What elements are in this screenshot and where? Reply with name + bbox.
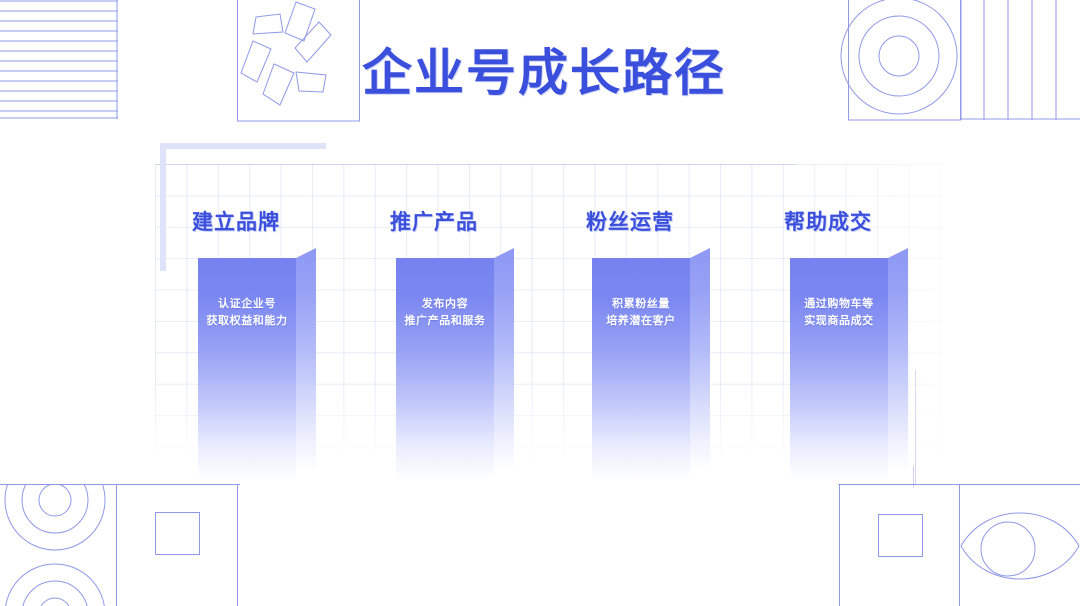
growth-step-4[interactable]: 帮助成交 通过购物车等 实现商品成交: [790, 248, 908, 480]
eye-icon: [960, 484, 1080, 606]
growth-step-2-line-1: 发布内容: [396, 296, 494, 313]
square-in-box-right: [838, 484, 962, 606]
growth-step-4-line-1: 通过购物车等: [790, 296, 888, 313]
concentric-circles-box: [838, 0, 962, 122]
growth-step-2-front-face: [396, 258, 494, 480]
growth-step-2-line-2: 推广产品和服务: [396, 313, 494, 330]
growth-step-4-heading: 帮助成交: [784, 206, 908, 236]
growth-step-1-side-face: [296, 248, 316, 470]
growth-step-2-heading: 推广产品: [390, 206, 514, 236]
slide-title-wrap: 企业号成长路径: [362, 48, 726, 98]
growth-step-2-description: 发布内容 推广产品和服务: [396, 296, 494, 330]
growth-step-3-heading: 粉丝运营: [586, 206, 710, 236]
vertical-stripes-panel: [960, 0, 1080, 122]
growth-step-3-line-2: 培养潜在客户: [592, 313, 690, 330]
square-in-box-left: [118, 484, 240, 606]
growth-step-4-line-2: 实现商品成交: [790, 313, 888, 330]
scattered-rectangles-box: [237, 0, 361, 122]
growth-step-2[interactable]: 推广产品 发布内容 推广产品和服务: [396, 248, 514, 480]
horizontal-stripes-panel: [0, 0, 120, 120]
growth-step-4-description: 通过购物车等 实现商品成交: [790, 296, 888, 330]
growth-step-1-description: 认证企业号 获取权益和能力: [198, 296, 296, 330]
growth-step-3-front-face: [592, 258, 690, 480]
growth-step-3-side-face: [690, 248, 710, 470]
stacked-concentric-circles-box: [0, 484, 118, 606]
growth-step-3[interactable]: 粉丝运营 积累粉丝量 培养潜在客户: [592, 248, 710, 480]
growth-step-1-line-1: 认证企业号: [198, 296, 296, 313]
growth-step-4-side-face: [888, 248, 908, 470]
slide-canvas: 企业号成长路径 建立品牌 认证企业号 获取权益和能力 推广产品 发布内容 推广产…: [0, 0, 1080, 606]
growth-step-4-front-face: [790, 258, 888, 480]
growth-step-2-side-face: [494, 248, 514, 470]
growth-step-3-line-1: 积累粉丝量: [592, 296, 690, 313]
growth-step-1-front-face: [198, 258, 296, 480]
page-title: 企业号成长路径: [362, 48, 726, 98]
diagram-stage: 建立品牌 认证企业号 获取权益和能力 推广产品 发布内容 推广产品和服务 粉丝运…: [155, 140, 945, 480]
growth-step-1-line-2: 获取权益和能力: [198, 313, 296, 330]
growth-step-1-heading: 建立品牌: [192, 206, 316, 236]
growth-step-3-description: 积累粉丝量 培养潜在客户: [592, 296, 690, 330]
grid-right-accent-line: [915, 370, 916, 485]
growth-step-1[interactable]: 建立品牌 认证企业号 获取权益和能力: [198, 248, 316, 480]
